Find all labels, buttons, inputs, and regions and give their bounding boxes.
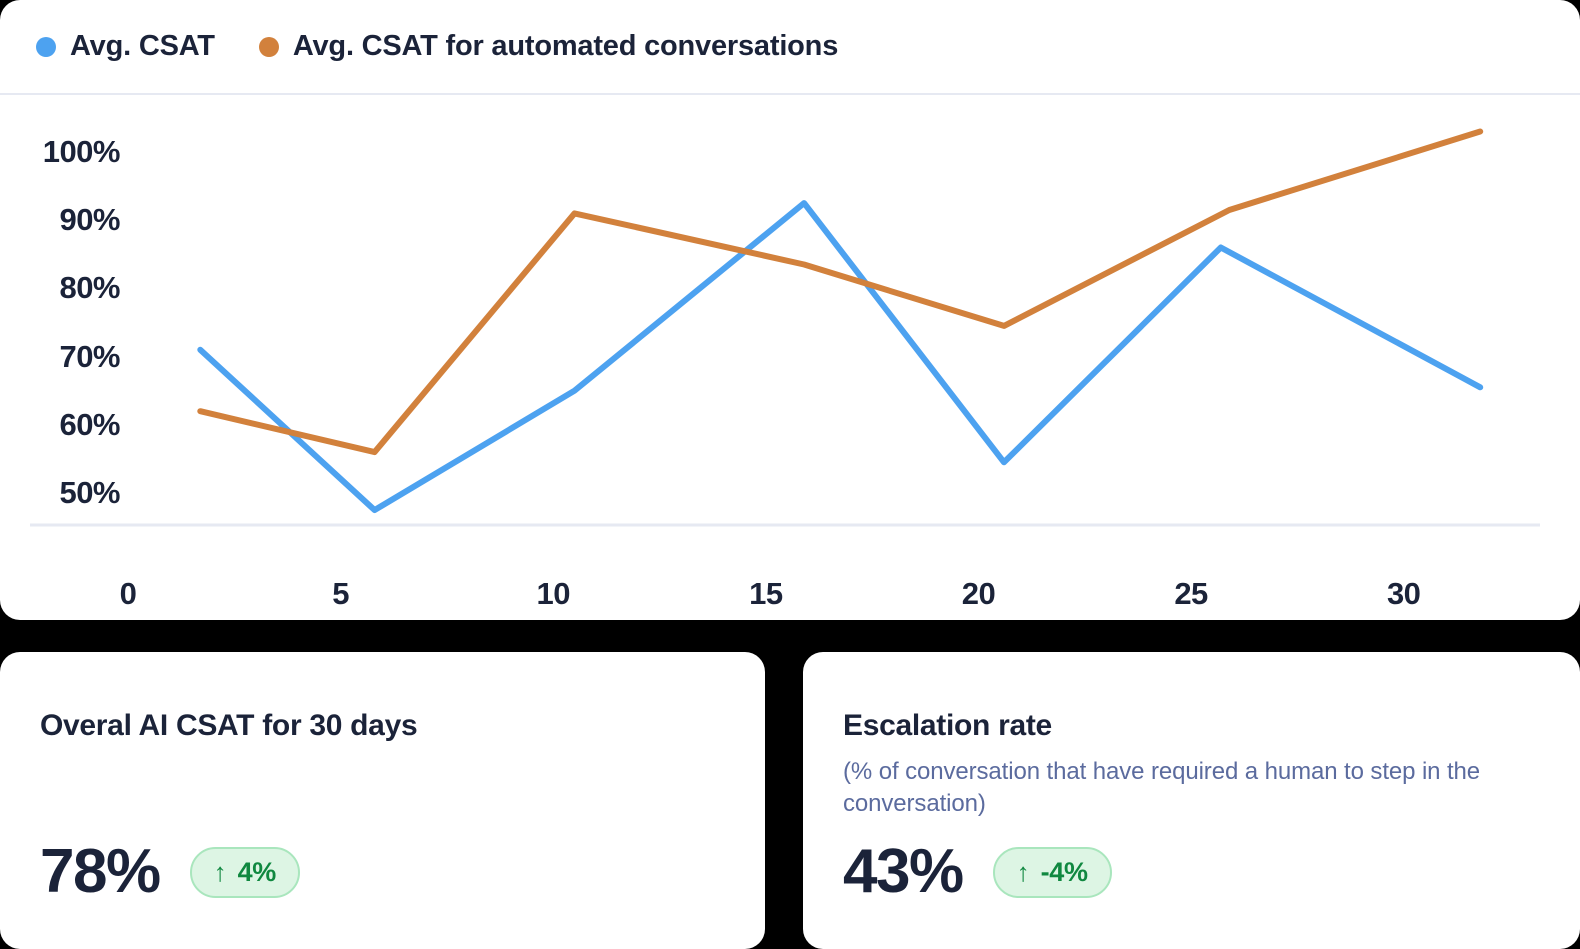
- x-axis-tick-label: 10: [536, 576, 569, 612]
- x-axis-tick-label: 20: [962, 576, 995, 612]
- series-line-avg-csat: [200, 203, 1480, 510]
- stat-value-row: 78% ↑ 4%: [40, 841, 300, 903]
- arrow-up-icon: ↑: [214, 859, 227, 885]
- y-axis-tick-label: 80%: [0, 270, 120, 306]
- x-axis-tick-label: 30: [1387, 576, 1420, 612]
- chart-svg: [0, 95, 1580, 620]
- y-axis-tick-label: 90%: [0, 202, 120, 238]
- stat-value: 78%: [40, 841, 160, 903]
- status-badge-label: 4%: [238, 859, 276, 886]
- stat-value: 43%: [843, 841, 963, 903]
- legend-item-avg-csat-automated[interactable]: Avg. CSAT for automated conversations: [259, 30, 838, 63]
- dashboard-root: Avg. CSAT Avg. CSAT for automated conver…: [0, 0, 1580, 949]
- x-axis-tick-label: 0: [120, 576, 137, 612]
- x-axis-tick-label: 15: [749, 576, 782, 612]
- chart-legend: Avg. CSAT Avg. CSAT for automated conver…: [0, 0, 1580, 95]
- stat-card-overall-ai-csat: Overal AI CSAT for 30 days 78% ↑ 4%: [0, 652, 765, 949]
- stat-card-subtitle: (% of conversation that have required a …: [843, 756, 1513, 819]
- x-axis-tick-label: 25: [1174, 576, 1207, 612]
- stat-card-title: Overal AI CSAT for 30 days: [40, 708, 725, 744]
- legend-label: Avg. CSAT for automated conversations: [293, 30, 838, 63]
- y-axis-tick-label: 50%: [0, 475, 120, 511]
- legend-label: Avg. CSAT: [70, 30, 215, 63]
- y-axis-tick-label: 60%: [0, 407, 120, 443]
- y-axis-tick-label: 70%: [0, 339, 120, 375]
- legend-item-avg-csat[interactable]: Avg. CSAT: [36, 30, 215, 63]
- series-line-avg-csat-automated: [200, 132, 1480, 453]
- chart-plot-area: 50%60%70%80%90%100% 051015202530: [0, 95, 1580, 620]
- stat-card-title: Escalation rate: [843, 708, 1540, 744]
- stat-value-row: 43% ↑ -4%: [843, 841, 1112, 903]
- arrow-up-icon: ↑: [1017, 859, 1030, 885]
- y-axis-tick-label: 100%: [0, 134, 120, 170]
- legend-dot-icon: [259, 37, 279, 57]
- status-badge: ↑ -4%: [993, 847, 1112, 898]
- stat-card-escalation-rate: Escalation rate (% of conversation that …: [803, 652, 1580, 949]
- status-badge-label: -4%: [1041, 859, 1088, 886]
- status-badge: ↑ 4%: [190, 847, 300, 898]
- legend-dot-icon: [36, 37, 56, 57]
- csat-chart-card: Avg. CSAT Avg. CSAT for automated conver…: [0, 0, 1580, 620]
- x-axis-tick-label: 5: [332, 576, 349, 612]
